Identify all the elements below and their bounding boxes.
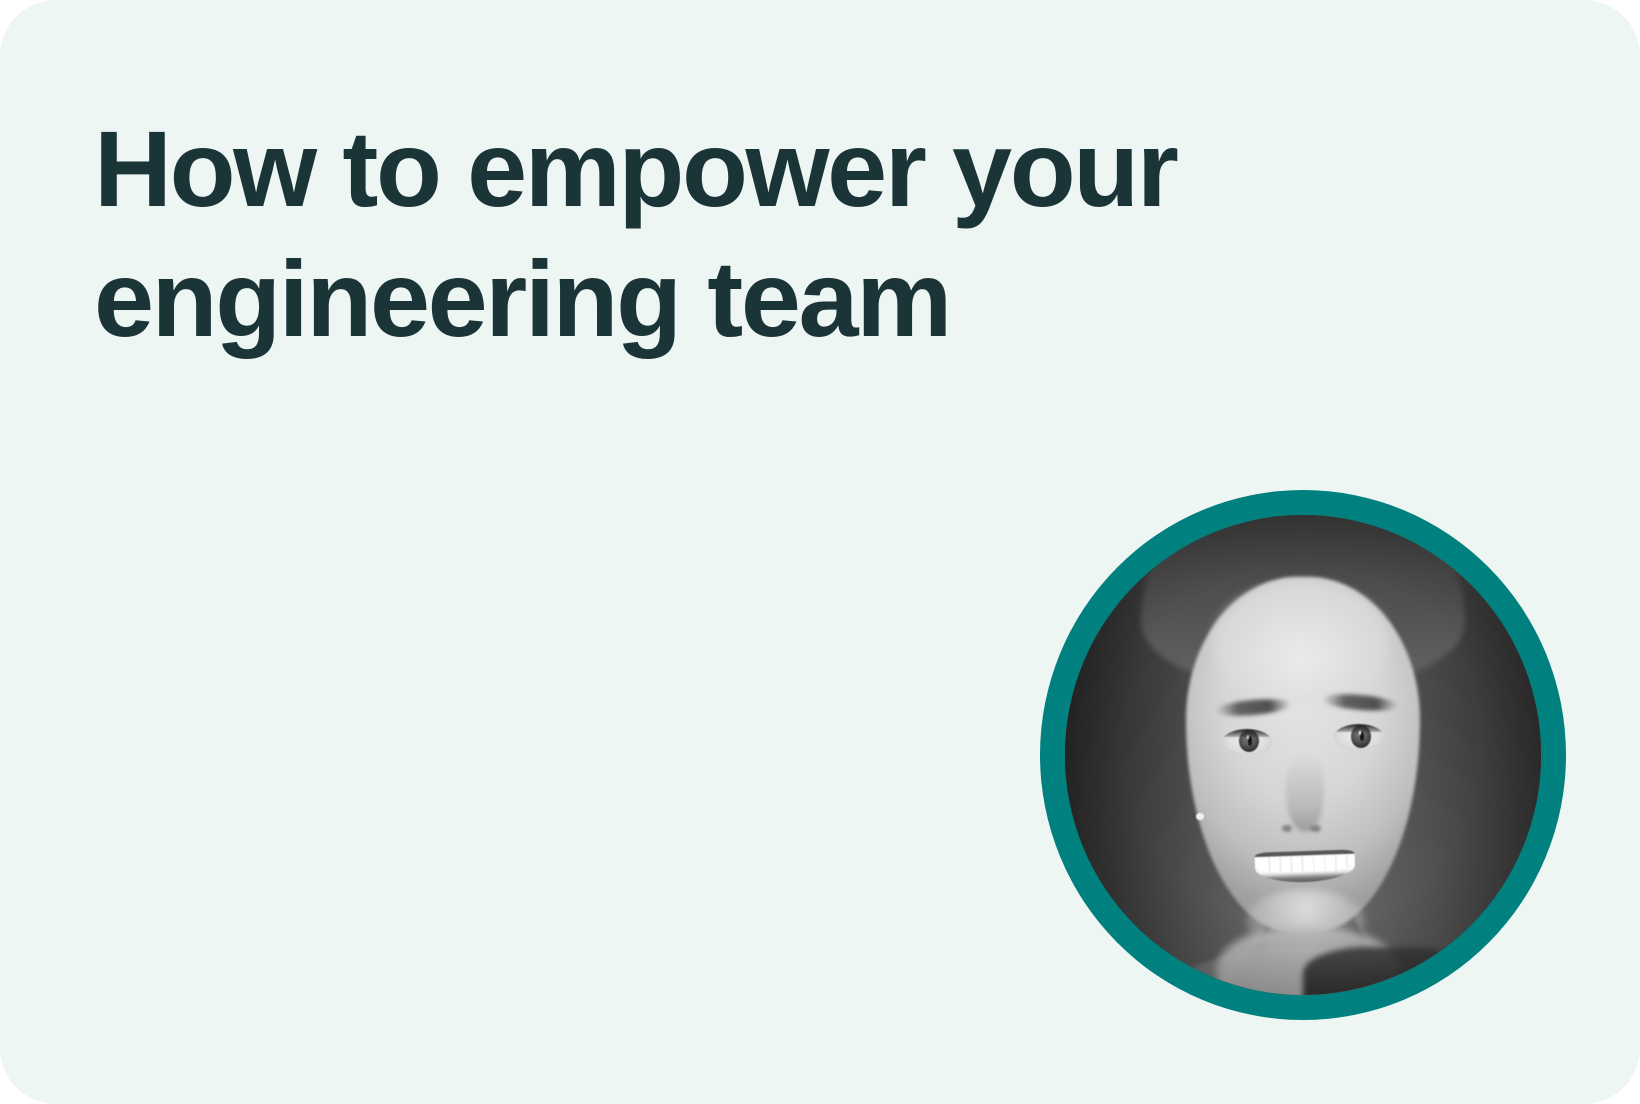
- avatar-photo: [1065, 515, 1541, 995]
- page-title: How to empower your engineering team: [94, 104, 1274, 364]
- photo-vignette: [1065, 515, 1541, 995]
- promo-card: How to empower your engineering team: [0, 0, 1640, 1104]
- avatar: [1040, 490, 1566, 1020]
